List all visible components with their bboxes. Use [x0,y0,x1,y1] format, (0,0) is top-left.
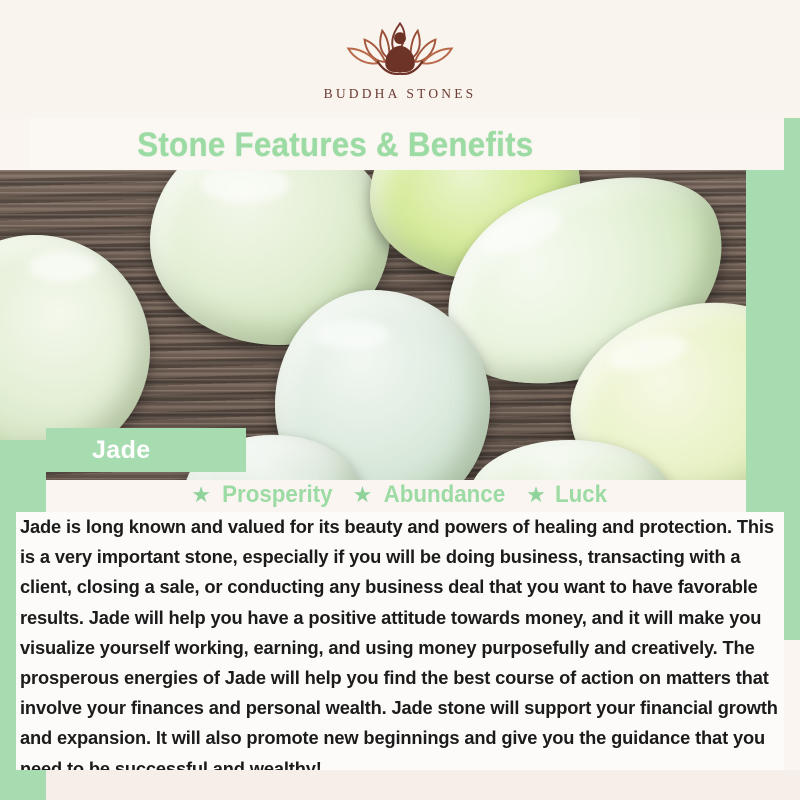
benefits-row: ★ Prosperity ★ Abundance ★ Luck [0,478,800,512]
infographic-canvas: BUDDHA STONES Stone Features & Benefits … [0,0,800,800]
star-icon: ★ [191,484,211,506]
footer-strip [0,770,800,800]
brand-name: BUDDHA STONES [324,86,477,102]
benefit-item: ★ Prosperity [191,481,336,509]
stone-name-bar: Jade [46,428,246,472]
brand-header: BUDDHA STONES [0,0,800,118]
benefit-label: Luck [555,481,607,509]
lotus-meditation-icon [325,16,475,84]
benefit-item: ★ Abundance [353,481,510,509]
stone-name-label: Jade [92,436,151,465]
star-icon: ★ [526,484,546,506]
benefit-label: Prosperity [222,481,332,509]
decor-band-bottom-left [0,770,46,800]
description-text: Jade is long known and valued for its be… [20,512,780,784]
description-panel: Jade is long known and valued for its be… [16,512,784,780]
stone-5-gloss [315,320,389,350]
stone-3-gloss [28,252,98,282]
title-strip: Stone Features & Benefits [30,118,640,172]
page-title: Stone Features & Benefits [137,126,533,165]
star-icon: ★ [353,484,373,506]
benefit-label: Abundance [384,481,506,509]
benefit-item: ★ Luck [526,481,609,509]
